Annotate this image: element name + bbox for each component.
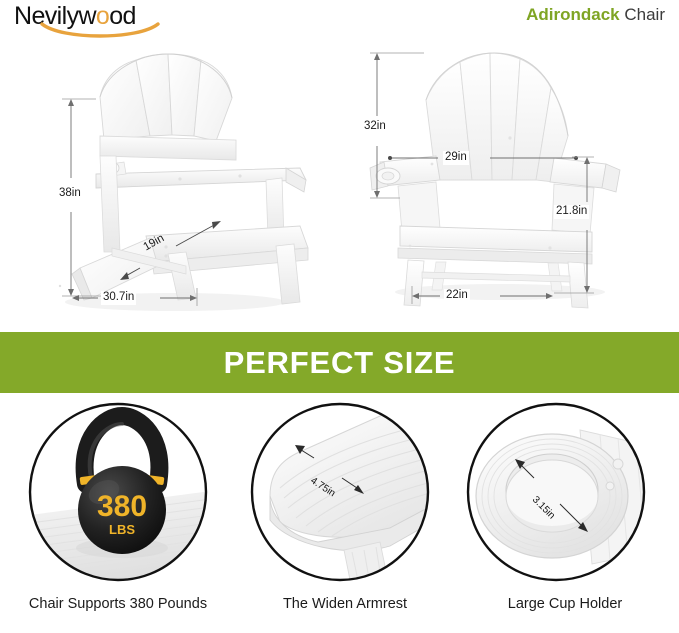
chair-side-view-illustration — [0, 40, 340, 330]
cupholder-art: 3.15in — [452, 400, 678, 590]
feature-weight-capacity: 380 LBS Chair Supports 380 Pounds — [5, 400, 231, 633]
armrest-icon: 4.75in — [240, 400, 450, 590]
product-type: Chair — [620, 5, 665, 24]
dimension-label-height: 38in — [57, 187, 83, 201]
dimension-label-arm-width: 29in — [443, 151, 469, 165]
dimension-label-back-height: 32in — [362, 120, 388, 134]
banner-title: PERFECT SIZE — [224, 345, 456, 381]
page-header: Nevilywood Adirondack Chair — [0, 0, 679, 42]
cupholder-icon: 3.15in — [460, 400, 670, 590]
kettlebell-weight-unit: LBS — [109, 522, 135, 537]
logo-smile-icon — [40, 22, 160, 40]
brand-logo: Nevilywood — [14, 2, 184, 38]
chair-front-view-illustration — [340, 40, 679, 330]
kettlebell-icon: 380 LBS — [18, 400, 218, 590]
chair-front-view-diagram: 32in 29in 21.8in 22in — [340, 40, 679, 330]
armrest-art: 4.75in — [232, 400, 458, 590]
feature-caption-cupholder: Large Cup Holder — [452, 596, 678, 612]
dimension-diagrams: 38in 19in 30.7in — [0, 40, 679, 330]
dimension-label-base-width: 22in — [444, 289, 470, 303]
perfect-size-banner: PERFECT SIZE — [0, 332, 679, 393]
infographic-page: Nevilywood Adirondack Chair — [0, 0, 679, 633]
kettlebell-weight-value: 380 — [97, 490, 147, 523]
feature-panels: 380 LBS Chair Supports 380 Pounds — [0, 400, 679, 633]
product-title: Adirondack Chair — [526, 5, 665, 25]
feature-caption-armrest: The Widen Armrest — [232, 596, 458, 612]
feature-cup-holder: 3.15in Large Cup Holder — [452, 400, 678, 633]
chair-side-view-diagram: 38in 19in 30.7in — [0, 40, 340, 330]
kettlebell-art: 380 LBS — [5, 400, 231, 590]
product-brand: Adirondack — [526, 5, 620, 24]
feature-caption-weight: Chair Supports 380 Pounds — [5, 596, 231, 612]
dimension-label-side-height: 21.8in — [554, 205, 589, 219]
feature-widen-armrest: 4.75in The Widen Armrest — [232, 400, 458, 633]
dimension-label-width: 30.7in — [101, 291, 136, 305]
